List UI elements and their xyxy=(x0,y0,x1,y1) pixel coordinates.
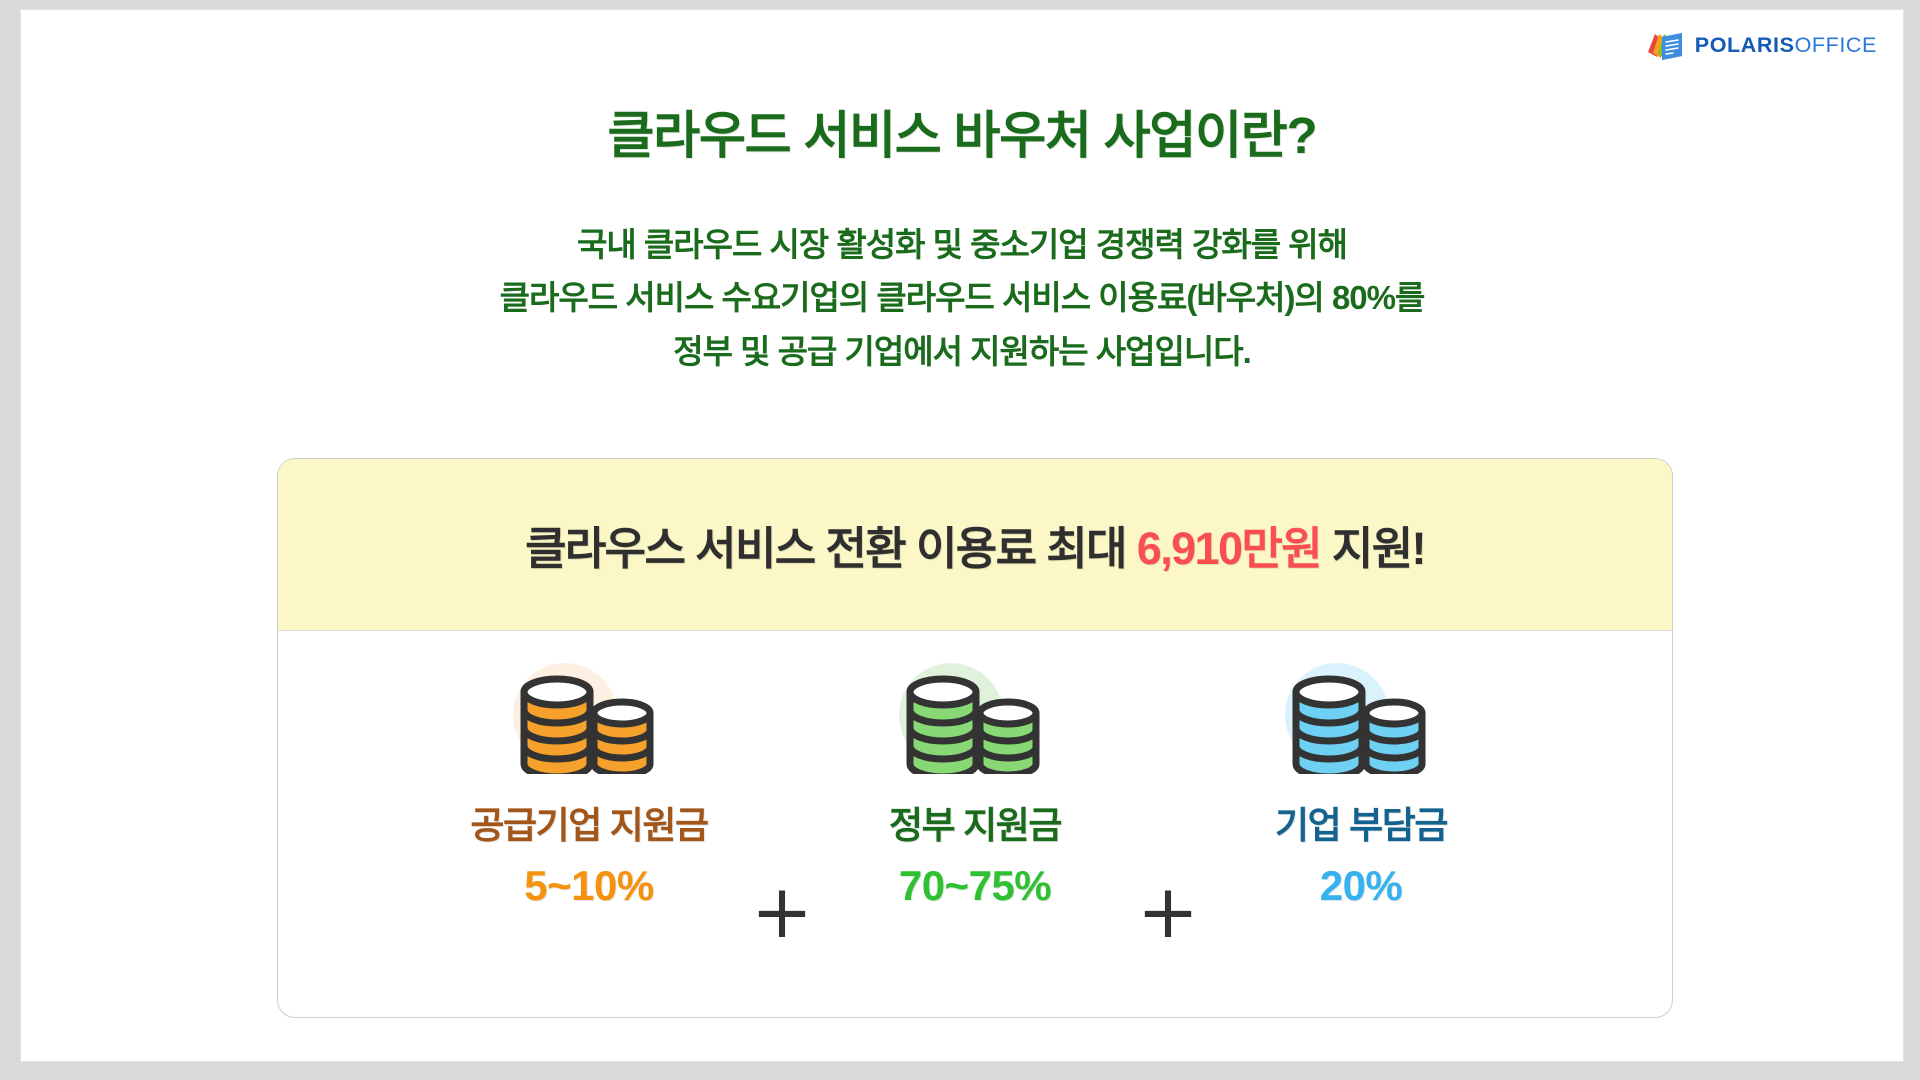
fund-label: 기업 부담금 xyxy=(1275,795,1447,849)
card-banner: 클라우스 서비스 전환 이용료 최대 6,910만원 지원! xyxy=(278,459,1672,631)
page-title: 클라우드 서비스 바우처 사업이란? xyxy=(21,94,1903,168)
fund-value: 70~75% xyxy=(899,862,1051,910)
intro-line-3: 정부 및 공급 기업에서 지원하는 사업입니다. xyxy=(21,325,1903,378)
brand-wordmark: POLARISOFFICE xyxy=(1695,33,1877,58)
benefit-card: 클라우스 서비스 전환 이용료 최대 6,910만원 지원! 공급기업 지원금5… xyxy=(277,458,1673,1018)
banner-amount: 6,910만원 xyxy=(1137,523,1321,574)
fund-value: 5~10% xyxy=(524,862,653,910)
intro-line-1: 국내 클라우드 시장 활성화 및 중소기업 경쟁력 강화를 위해 xyxy=(21,218,1903,271)
coin-stack-icon xyxy=(902,664,1048,774)
intro-paragraph: 국내 클라우드 시장 활성화 및 중소기업 경쟁력 강화를 위해 클라우드 서비… xyxy=(21,218,1903,378)
banner-prefix: 클라우스 서비스 전환 이용료 최대 xyxy=(525,523,1137,574)
coin-figure xyxy=(885,661,1065,777)
plus-icon: + xyxy=(1125,875,1211,949)
brand-logo: POLARISOFFICE xyxy=(1646,26,1877,64)
fund-column: 정부 지원금70~75% xyxy=(825,661,1125,910)
fund-value: 20% xyxy=(1320,862,1403,910)
coin-figure xyxy=(1271,661,1451,777)
polaris-office-document-icon xyxy=(1646,27,1686,63)
slide-canvas: POLARISOFFICE 클라우드 서비스 바우처 사업이란? 국내 클라우드… xyxy=(20,9,1904,1062)
banner-suffix: 지원! xyxy=(1321,523,1425,574)
fund-label: 정부 지원금 xyxy=(889,795,1061,849)
coin-stack-icon xyxy=(516,664,662,774)
coin-figure xyxy=(499,661,679,777)
intro-line-2: 클라우드 서비스 수요기업의 클라우드 서비스 이용료(바우처)의 80%를 xyxy=(21,271,1903,324)
fund-column: 기업 부담금20% xyxy=(1211,661,1511,910)
fund-label: 공급기업 지원금 xyxy=(470,795,707,849)
brand-name-bold: POLARIS xyxy=(1695,33,1795,57)
fund-column: 공급기업 지원금5~10% xyxy=(439,661,739,910)
card-banner-text: 클라우스 서비스 전환 이용료 최대 6,910만원 지원! xyxy=(525,512,1425,577)
brand-name-light: OFFICE xyxy=(1795,33,1877,57)
plus-icon: + xyxy=(739,875,825,949)
coin-stack-icon xyxy=(1288,664,1434,774)
card-body: 공급기업 지원금5~10%+정부 지원금70~75%+기업 부담금20% xyxy=(278,631,1672,1017)
